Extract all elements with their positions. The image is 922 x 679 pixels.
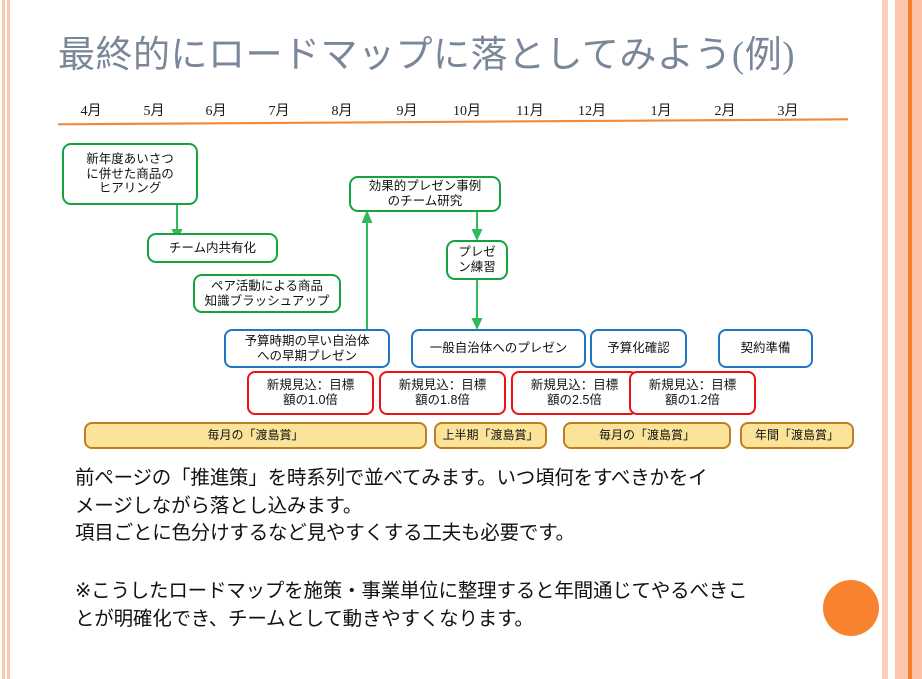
yellow-bar-first-half-award[interactable]: 上半期「渡島賞」	[434, 422, 547, 449]
month-label-9: 9月	[384, 100, 430, 120]
green-node-new-year-greeting[interactable]: 新年度あいさつ に併せた商品の ヒアリング	[62, 143, 198, 205]
yellow-bar-monthly-award-2[interactable]: 毎月の「渡島賞」	[563, 422, 731, 449]
red-node-target-2[interactable]: 新規見込：目標 額の1.8倍	[379, 371, 506, 415]
yellow-bar-annual-award[interactable]: 年間「渡島賞」	[740, 422, 854, 449]
month-label-5: 5月	[131, 100, 177, 120]
right-edge-stripe-1	[882, 0, 888, 679]
right-edge-stripe-3	[912, 0, 922, 679]
green-node-team-sharing[interactable]: チーム内共有化	[147, 233, 278, 263]
month-label-2: 2月	[702, 100, 748, 120]
connector-practice-to-generalpresentation	[465, 279, 489, 332]
body-paragraph-2: ※こうしたロードマップを施策・事業単位に整理すると年間通じてやるべきこ とが明確…	[75, 578, 865, 633]
red-node-target-1[interactable]: 新規見込：目標 額の1.0倍	[247, 371, 374, 415]
slide-title: 最終的にロードマップに落としてみよう(例)	[58, 24, 818, 78]
slide-canvas: 最終的にロードマップに落としてみよう(例) 4月 5月 6月 7月 8月 9月 …	[0, 0, 922, 679]
red-node-target-3[interactable]: 新規見込：目標 額の2.5倍	[511, 371, 638, 415]
month-label-4: 4月	[68, 100, 114, 120]
green-node-pair-activity[interactable]: ペア活動による商品 知識ブラッシュアップ	[193, 274, 341, 313]
month-label-11: 11月	[507, 100, 553, 120]
connector-research-to-practice	[465, 207, 489, 243]
orange-circle-decoration	[823, 580, 879, 636]
red-node-target-4[interactable]: 新規見込：目標 額の1.2倍	[629, 371, 756, 415]
green-node-presentation-research[interactable]: 効果的プレゼン事例 のチーム研究	[349, 176, 501, 212]
yellow-bar-monthly-award-1[interactable]: 毎月の「渡島賞」	[84, 422, 427, 449]
left-edge-stripe-1	[2, 0, 5, 679]
blue-node-early-presentation[interactable]: 予算時期の早い自治体 への早期プレゼン	[224, 329, 390, 368]
month-label-10: 10月	[444, 100, 490, 120]
body-paragraph-1: 前ページの「推進策」を時系列で並べてみます。いつ頃何をすべきかをイ メージしなが…	[75, 465, 865, 548]
month-label-6: 6月	[193, 100, 239, 120]
blue-node-general-presentation[interactable]: 一般自治体へのプレゼン	[411, 329, 586, 368]
left-edge-stripe-2	[7, 0, 10, 679]
blue-node-budget-confirmation[interactable]: 予算化確認	[590, 329, 687, 368]
month-label-8: 8月	[319, 100, 365, 120]
right-edge-stripe-2	[895, 0, 908, 679]
blue-node-contract-preparation[interactable]: 契約準備	[718, 329, 813, 368]
month-label-12: 12月	[569, 100, 615, 120]
month-label-3: 3月	[765, 100, 811, 120]
green-node-presentation-practice[interactable]: プレゼ ン練習	[446, 240, 508, 280]
month-label-1: 1月	[638, 100, 684, 120]
connector-earlypresentation-to-research	[355, 208, 379, 330]
month-label-7: 7月	[256, 100, 302, 120]
